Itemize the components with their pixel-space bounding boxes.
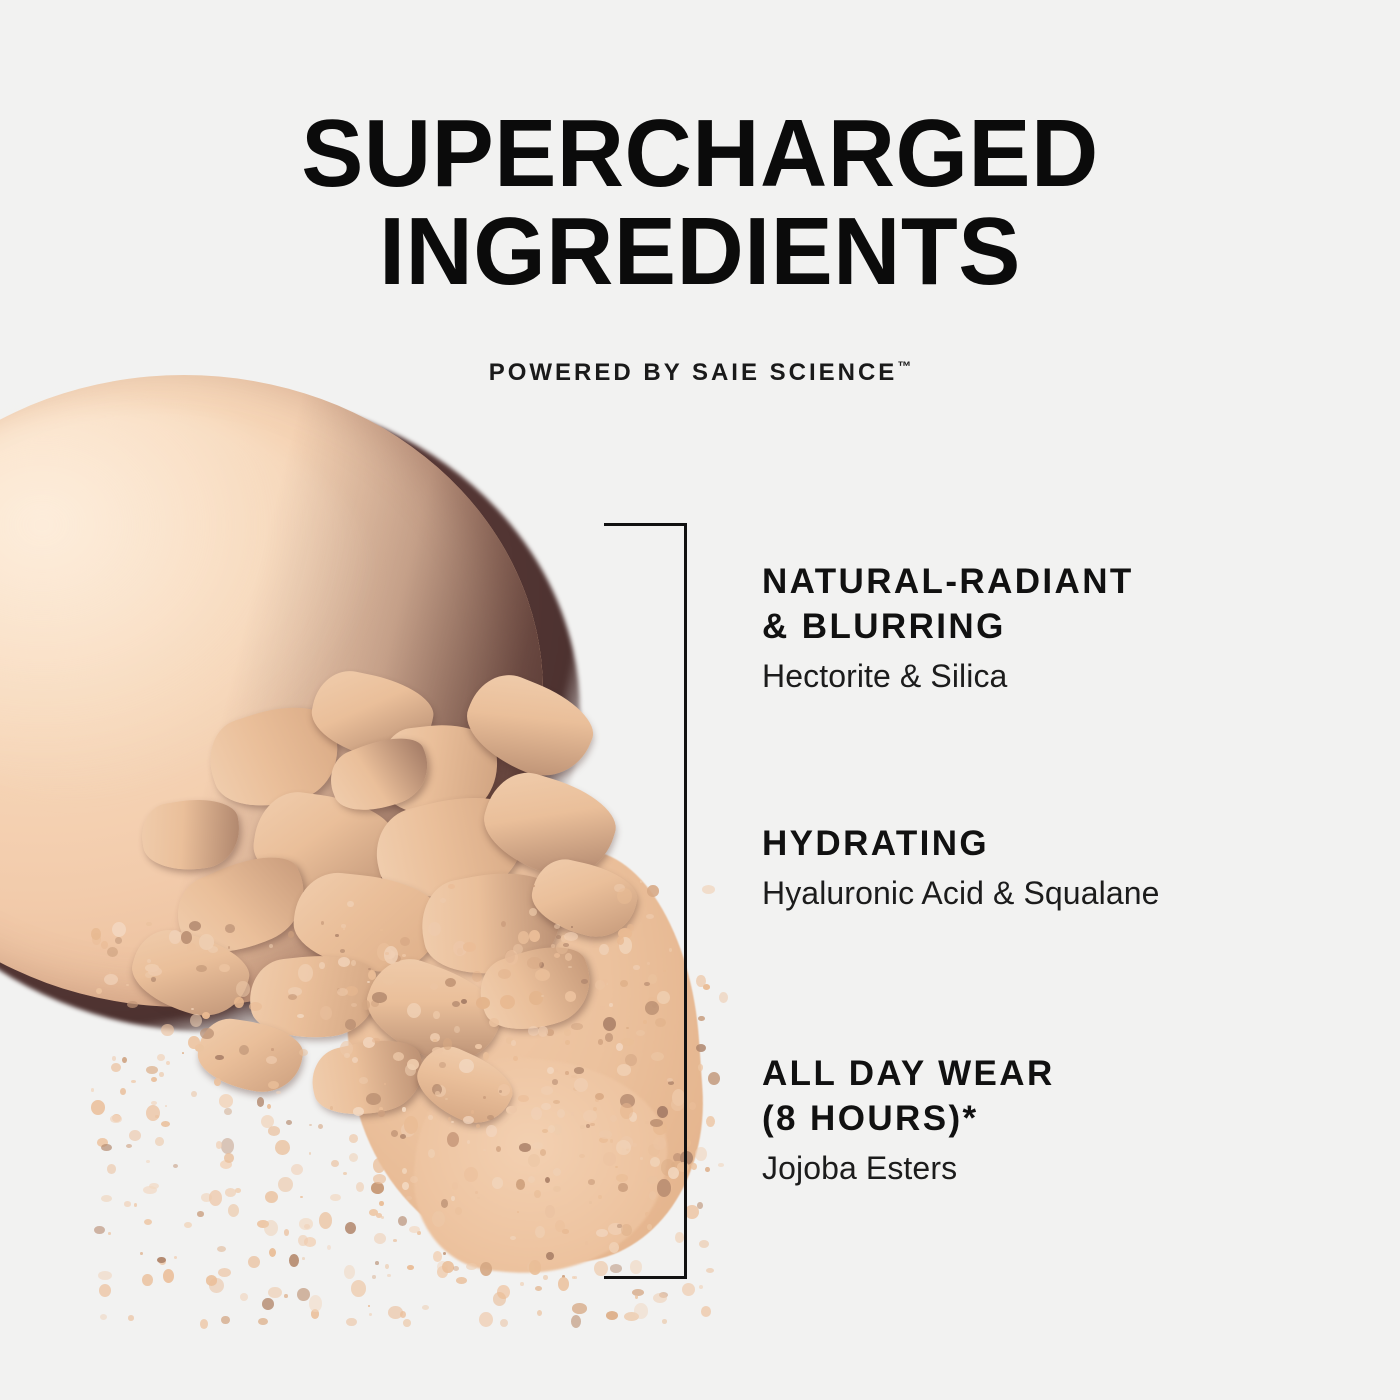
powder-dust-speck [96,988,102,994]
powder-dust-speck [407,1265,414,1270]
powder-dust-speck [387,1274,391,1277]
powder-dust-speck [335,934,339,937]
powder-dust-speck [593,1107,597,1111]
powder-dust-speck [719,992,728,1003]
powder-dust-speck [298,964,313,982]
powder-dust-speck [341,924,346,928]
powder-dust-speck [240,1293,248,1301]
powder-dust-speck [353,1107,364,1116]
powder-dust-speck [598,1039,603,1045]
powder-dust-speck [585,1241,588,1245]
powder-dust-speck [541,1103,551,1110]
powder-dust-speck [284,1229,289,1236]
powder-dust-speck [268,1287,282,1298]
powder-dust-speck [299,1049,308,1056]
powder-dust-speck [146,922,152,926]
powder-dust-speck [174,1256,177,1259]
powder-dust-speck [373,1174,386,1184]
powder-dust-speck [309,1124,312,1126]
powder-dust-speck [347,901,354,907]
powder-dust-speck [511,1040,516,1046]
powder-dust-speck [318,1124,323,1129]
powder-dust-speck [288,931,294,938]
powder-dust-speck [367,981,370,983]
powder-dust-speck [529,930,540,942]
powder-dust-speck [200,1028,214,1039]
powder-dust-speck [217,1246,226,1252]
powder-dust-speck [372,992,387,1003]
powder-dust-speck [498,969,511,979]
page-title: SUPERCHARGED INGREDIENTS [21,105,1379,301]
feature-title: HYDRATING [762,822,1160,867]
powder-dust-speck [147,959,151,963]
powder-dust-speck [691,1163,697,1170]
powder-dust-speck [191,1091,197,1097]
powder-dust-speck [221,1316,230,1324]
powder-dust-speck [320,1006,332,1020]
powder-dust-speck [120,1088,126,1095]
powder-dust-speck [535,969,550,981]
powder-dust-speck [529,908,537,916]
powder-dust-speck [131,1080,136,1083]
feature-item-hydrating: HYDRATING Hyaluronic Acid & Squalane [762,822,1160,913]
powder-dust-speck [286,1120,292,1125]
powder-dust-speck [149,1183,159,1189]
powder-dust-speck [545,1205,555,1218]
powder-dust-speck [148,967,162,976]
powder-dust-speck [571,926,573,928]
powder-dust-speck [107,1164,116,1174]
powder-dust-speck [492,1177,503,1189]
feature-ingredients: Hyaluronic Acid & Squalane [762,873,1160,913]
powder-dust-speck [466,1263,477,1270]
powder-dust-speck [278,1177,293,1192]
powder-dust-speck [580,1125,585,1129]
powder-dust-speck [146,1066,158,1074]
powder-dust-speck [362,1000,370,1010]
powder-dust-speck [528,1176,535,1183]
powder-dust-speck [196,965,207,972]
powder-dust-speck [476,1124,480,1128]
bracket-connector [604,523,687,1279]
powder-dust-speck [471,1110,474,1114]
powder-dust-speck [634,1303,648,1319]
powder-dust-speck [574,1078,588,1092]
powder-dust-speck [445,1098,448,1100]
powder-dust-speck [535,1226,545,1238]
powder-dust-speck [235,1188,241,1193]
powder-dust-speck [441,1199,448,1208]
powder-dust-speck [112,922,126,937]
powder-dust-speck [472,971,482,982]
powder-dust-speck [288,994,297,1000]
powder-dust-speck [101,1195,112,1202]
trademark-symbol: ™ [897,358,911,374]
feature-ingredients: Hectorite & Silica [762,656,1134,696]
powder-dust-speck [199,934,214,950]
powder-dust-speck [115,937,122,944]
powder-dust-speck [144,1219,152,1225]
powder-dust-speck [352,1057,358,1063]
powder-dust-speck [705,1167,710,1172]
powder-dust-speck [188,1036,200,1049]
powder-dust-speck [112,1056,116,1061]
powder-dust-speck [496,1146,501,1152]
powder-dust-speck [440,898,446,903]
powder-dust-speck [94,1226,105,1234]
powder-dust-speck [330,1194,341,1201]
powder-dust-speck [456,1277,467,1284]
powder-dust-speck [146,1160,150,1163]
powder-dust-speck [543,1275,548,1280]
powder-dust-speck [124,1201,131,1207]
powder-dust-speck [447,1132,459,1147]
powder-dust-speck [483,1052,489,1060]
powder-dust-speck [224,1108,232,1115]
powder-dust-speck [428,922,441,936]
powder-dust-speck [257,1097,264,1107]
powder-dust-speck [98,1271,112,1280]
powder-dust-speck [572,1303,587,1314]
powder-dust-speck [351,1003,357,1007]
powder-dust-speck [268,1081,279,1089]
powder-dust-speck [571,1112,574,1116]
powder-dust-speck [467,1140,470,1144]
powder-dust-speck [433,1039,437,1042]
powder-dust-speck [535,1286,542,1291]
powder-dust-speck [451,1121,454,1123]
powder-dust-speck [111,1063,121,1072]
powder-dust-speck [553,1100,560,1104]
powder-dust-speck [155,1115,159,1118]
powder-dust-speck [483,1149,486,1151]
powder-dust-speck [388,1306,403,1319]
powder-dust-speck [189,921,201,931]
powder-dust-speck [146,1105,160,1121]
powder-dust-speck [165,1105,167,1107]
powder-dust-speck [461,999,467,1004]
powder-dust-speck [565,1040,570,1045]
powder-dust-speck [428,1149,435,1158]
powder-dust-speck [346,1318,357,1326]
powder-dust-speck [151,977,156,982]
powder-dust-speck [91,1100,105,1115]
powder-dust-speck [366,1093,381,1105]
powder-dust-speck [537,1310,542,1316]
powder-dust-speck [236,981,250,997]
powder-dust-speck [269,1248,276,1257]
powder-dust-speck [262,1298,274,1310]
powder-dust-speck [632,1289,644,1296]
powder-dust-speck [359,1077,368,1084]
powder-dust-speck [258,1318,268,1325]
powder-dust-speck [463,1116,474,1124]
powder-dust-speck [532,1142,543,1149]
powder-dust-speck [157,1257,166,1263]
powder-dust-speck [122,1057,127,1063]
powder-dust-speck [169,930,181,944]
feature-item-natural-radiant-blurring: NATURAL-RADIANT & BLURRING Hectorite & S… [762,560,1134,696]
powder-dust-speck [159,1072,164,1077]
powder-dust-speck [107,947,118,957]
powder-dust-speck [376,1213,382,1218]
powder-dust-speck [309,1152,311,1155]
powder-dust-speck [330,1106,333,1110]
powder-dust-speck [475,1191,478,1194]
powder-dust-speck [546,1252,554,1260]
powder-dust-speck [403,1319,411,1327]
powder-dust-speck [91,1088,94,1092]
powder-dust-speck [463,942,476,952]
powder-dust-speck [476,997,490,1009]
powder-dust-speck [589,1201,592,1204]
powder-dust-speck [430,983,438,990]
powder-dust-speck [553,1168,561,1176]
powder-dust-speck [327,1245,331,1250]
page-title-line-2: INGREDIENTS [21,203,1379,301]
powder-dust-speck [384,1083,386,1085]
powder-dust-speck [432,1047,443,1054]
powder-dust-speck [343,928,345,930]
powder-dust-speck [197,1211,204,1217]
powder-dust-speck [682,1283,695,1296]
powder-dust-speck [518,931,529,944]
powder-dust-speck [400,1134,406,1139]
powder-dust-speck [586,1124,590,1128]
powder-dust-speck [101,941,108,949]
powder-dust-speck [501,921,506,927]
powder-dust-speck [402,1107,406,1112]
powder-dust-speck [140,1252,143,1255]
powder-dust-speck [219,964,230,972]
powder-dust-speck [289,1254,299,1267]
powder-dust-speck [538,1026,548,1037]
powder-dust-speck [706,1116,715,1127]
powder-dust-speck [595,1093,604,1100]
powder-dust-speck [545,1177,550,1183]
powder-dust-speck [378,1110,385,1117]
powder-dust-speck [493,1292,506,1306]
powder-dust-speck [528,1154,540,1167]
powder-dust-speck [464,1167,478,1182]
powder-dust-speck [265,1191,278,1203]
powder-dust-speck [541,995,544,997]
powder-dust-speck [509,1106,517,1113]
powder-dust-speck [554,953,560,958]
powder-dust-speck [435,1091,440,1096]
powder-dust-speck [126,1144,132,1148]
powder-dust-speck [574,1276,577,1279]
powder-dust-speck [372,1275,376,1279]
powder-dust-speck [356,1182,364,1192]
powder-dust-speck [487,1115,494,1120]
powder-dust-speck [445,978,456,987]
powder-dust-speck [166,1061,170,1065]
powder-dust-speck [404,1116,418,1134]
powder-dust-speck [343,1172,347,1175]
powder-dust-speck [368,1305,370,1307]
powder-dust-speck [565,1071,569,1075]
page-title-line-1: SUPERCHARGED [21,105,1379,203]
powder-dust-speck [393,1239,397,1242]
powder-dust-speck [385,1264,389,1269]
powder-dust-speck [454,1026,460,1033]
powder-dust-speck [380,929,383,931]
powder-dust-speck [331,1160,339,1167]
powder-dust-speck [271,1048,274,1051]
powder-dust-speck [553,1186,561,1192]
powder-dust-speck [653,1293,667,1303]
powder-dust-speck [540,1149,546,1156]
powder-dust-speck [410,1176,418,1183]
powder-dust-speck [541,1086,553,1095]
powder-dust-speck [635,1295,638,1299]
powder-dust-speck [173,1164,178,1168]
feature-title: NATURAL-RADIANT & BLURRING [762,560,1134,650]
powder-dust-speck [228,946,230,949]
powder-dust-speck [161,1024,174,1036]
powder-dust-speck [701,1306,711,1317]
powder-dust-speck [579,1154,585,1158]
powder-dust-speck [215,1055,224,1060]
page-subtitle-text: POWERED BY SAIE SCIENCE [489,359,898,386]
powder-dust-speck [568,966,572,968]
powder-dust-speck [562,1229,569,1234]
powder-dust-speck [284,1294,288,1298]
powder-dust-speck [555,1069,558,1072]
powder-dust-speck [228,1204,239,1217]
feature-title: ALL DAY WEAR (8 HOURS)* [762,1052,1055,1142]
powder-dust-speck [518,1095,529,1102]
powder-dust-speck [184,1222,192,1228]
powder-dust-speck [187,943,196,951]
powder-dust-speck [234,997,244,1008]
powder-dust-speck [155,1137,164,1146]
powder-dust-speck [513,944,523,954]
powder-dust-speck [291,1164,303,1175]
powder-dust-speck [163,1269,174,1283]
powder-dust-speck [695,1147,707,1161]
powder-dust-speck [127,1001,138,1008]
powder-dust-speck [161,1121,170,1127]
powder-dust-speck [368,970,376,980]
powder-dust-speck [483,1096,486,1099]
powder-dust-speck [99,1284,111,1297]
powder-dust-speck [264,1220,278,1236]
powder-dust-speck [432,1211,445,1227]
powder-dust-speck [300,1196,303,1198]
feature-item-all-day-wear: ALL DAY WEAR (8 HOURS)* Jojoba Esters [762,1052,1055,1188]
powder-dust-speck [563,943,569,947]
powder-dust-speck [239,1045,249,1055]
powder-dust-speck [534,1190,541,1198]
powder-dust-speck [571,1075,577,1078]
powder-dust-speck [302,1257,305,1260]
powder-dust-speck [191,1008,194,1010]
powder-dust-speck [374,1233,386,1244]
powder-dust-speck [500,1319,508,1327]
powder-dust-speck [529,991,543,1005]
powder-dust-speck [319,962,325,969]
powder-dust-speck [382,974,396,985]
powder-dust-speck [433,1251,442,1262]
powder-dust-speck [598,1195,602,1199]
powder-dust-speck [443,1252,446,1255]
powder-dust-speck [134,1203,137,1207]
powder-dust-speck [571,1023,583,1030]
powder-dust-speck [402,1182,409,1190]
powder-dust-speck [321,921,324,925]
powder-dust-speck [351,1280,366,1297]
powder-dust-speck [442,1261,454,1273]
powder-dust-speck [451,1196,455,1201]
powder-dust-speck [565,953,572,961]
powder-dust-speck [297,1014,304,1018]
powder-dust-speck [182,1052,184,1054]
powder-dust-speck [516,1179,525,1190]
powder-dust-speck [269,944,273,948]
powder-dust-speck [475,1044,482,1049]
powder-dust-speck [480,1262,492,1276]
powder-dust-speck [275,1140,290,1155]
powder-dust-speck [702,885,715,894]
powder-dust-speck [542,1129,548,1133]
powder-dust-speck [248,1256,260,1268]
powder-dust-speck [422,1305,429,1310]
powder-dust-speck [398,1216,407,1226]
powder-dust-speck [452,1001,460,1007]
powder-dust-speck [224,1153,234,1163]
powder-dust-speck [486,1125,497,1137]
powder-dust-speck [706,1268,714,1273]
powder-dust-speck [699,1285,703,1289]
powder-dust-speck [298,1235,308,1246]
powder-dust-speck [214,1078,221,1086]
powder-dust-speck [433,1011,440,1019]
powder-dust-speck [202,1012,210,1019]
powder-dust-speck [696,975,706,987]
powder-dust-speck [110,1115,122,1123]
powder-dust-speck [218,1268,231,1277]
powder-dust-speck [402,954,406,957]
powder-dust-speck [517,1211,519,1213]
powder-dust-speck [708,1072,720,1085]
powder-dust-speck [373,1158,385,1173]
powder-dust-speck [338,957,350,967]
powder-dust-speck [699,1240,709,1248]
product-infographic: SUPERCHARGED INGREDIENTS POWERED BY SAIE… [0,0,1400,1400]
powder-dust-speck [319,1212,332,1229]
powder-dust-speck [402,1168,407,1174]
powder-dust-speck [276,1091,281,1094]
powder-dust-speck [448,884,455,889]
powder-dust-speck [718,1163,724,1167]
powder-dust-speck [564,932,578,941]
powder-dust-speck [477,1197,480,1199]
powder-dust-speck [309,1295,322,1312]
powder-dust-speck [369,1313,372,1316]
powder-dust-speck [554,924,560,929]
powder-dust-speck [157,1054,165,1061]
powder-dust-speck [552,1079,558,1085]
powder-dust-speck [532,885,535,887]
powder-dust-speck [581,979,588,984]
powder-dust-speck [406,1196,412,1200]
powder-dust-speck [267,1104,271,1109]
powder-dust-speck [489,1018,499,1027]
powder-dust-speck [407,1003,421,1018]
powder-dust-speck [510,1236,516,1240]
